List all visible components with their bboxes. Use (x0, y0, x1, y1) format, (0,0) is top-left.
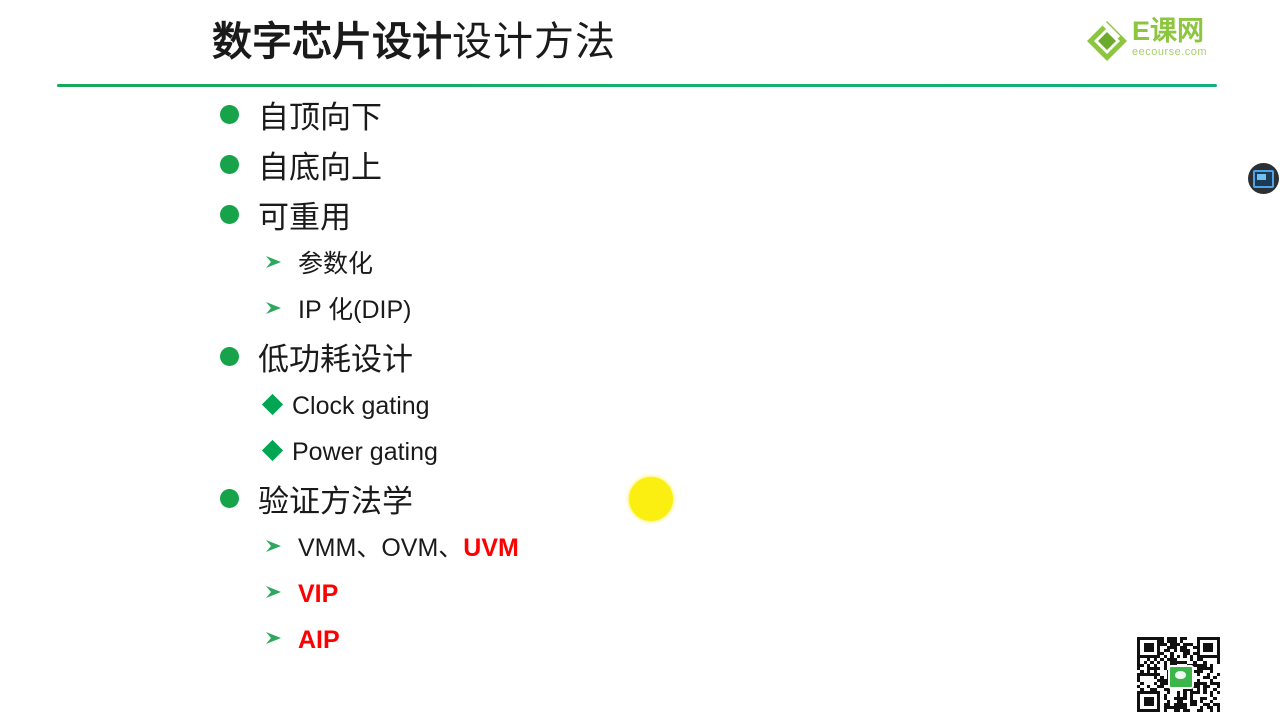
bullet-diamond-icon (262, 394, 283, 415)
bullet-arrow-icon (265, 584, 283, 600)
list-item-label: 验证方法学 (258, 482, 413, 522)
brand-logo-text: E课网 eecourse.com (1132, 16, 1218, 59)
list-item-highlight: AIP (298, 626, 340, 654)
list-item: VMM、OVM、UVM (0, 532, 1280, 578)
list-item-label: VMM、OVM、UVM (298, 532, 519, 564)
list-item-label: Clock gating (292, 390, 430, 422)
brand-name: E课网 (1132, 16, 1218, 46)
bullet-disc-icon (220, 347, 239, 366)
wechat-logo-icon (1168, 665, 1194, 689)
brand-url: eecourse.com (1132, 46, 1218, 59)
list-item-text: VMM、OVM、 (298, 534, 463, 562)
brand-logo: E课网 eecourse.com (1086, 16, 1216, 68)
list-item-label: 自底向上 (258, 148, 382, 188)
bullet-diamond-icon (262, 440, 283, 461)
list-item: AIP (0, 624, 1280, 670)
list-item: IP 化(DIP) (0, 294, 1280, 340)
diamond-logo-mark-icon (1086, 20, 1128, 62)
page-title-secondary: 设计方法 (452, 20, 616, 64)
list-item: 自顶向下 (0, 98, 1280, 148)
bullet-disc-icon (220, 105, 239, 124)
bullet-list: 自顶向下 自底向上 可重用 参数化 IP 化(DIP) 低功耗设计 (0, 98, 1280, 670)
page-title-primary: 数字芯片设计 (212, 20, 452, 64)
list-item: 参数化 (0, 248, 1280, 294)
title-divider (57, 84, 1217, 87)
laser-pointer-dot (629, 477, 673, 521)
page-title: 数字芯片设计设计方法 (212, 14, 616, 70)
bullet-disc-icon (220, 155, 239, 174)
wechat-qr-code (1137, 637, 1220, 712)
bullet-arrow-icon (265, 538, 283, 554)
bullet-disc-icon (220, 205, 239, 224)
screen-share-button[interactable] (1248, 163, 1279, 194)
list-item-label: 自顶向下 (258, 98, 382, 138)
list-item-label: Power gating (292, 436, 438, 468)
list-item: 低功耗设计 (0, 340, 1280, 390)
list-item-label: IP 化(DIP) (298, 294, 411, 326)
list-item-label: VIP (298, 578, 338, 610)
list-item: VIP (0, 578, 1280, 624)
list-item-highlight: VIP (298, 580, 338, 608)
bullet-arrow-icon (265, 630, 283, 646)
monitor-icon (1253, 170, 1274, 188)
slide-canvas: 数字芯片设计设计方法 E课网 eecourse.com 自顶向下 自底向上 可重… (0, 0, 1280, 720)
list-item: 可重用 (0, 198, 1280, 248)
list-item-label: 可重用 (258, 198, 351, 238)
list-item-label: 参数化 (298, 248, 373, 280)
list-item-highlight: UVM (463, 534, 519, 562)
bullet-arrow-icon (265, 254, 283, 270)
list-item-label: AIP (298, 624, 340, 656)
list-item-label: 低功耗设计 (258, 340, 413, 380)
bullet-arrow-icon (265, 300, 283, 316)
bullet-disc-icon (220, 489, 239, 508)
list-item: Power gating (0, 436, 1280, 482)
list-item: Clock gating (0, 390, 1280, 436)
list-item: 自底向上 (0, 148, 1280, 198)
